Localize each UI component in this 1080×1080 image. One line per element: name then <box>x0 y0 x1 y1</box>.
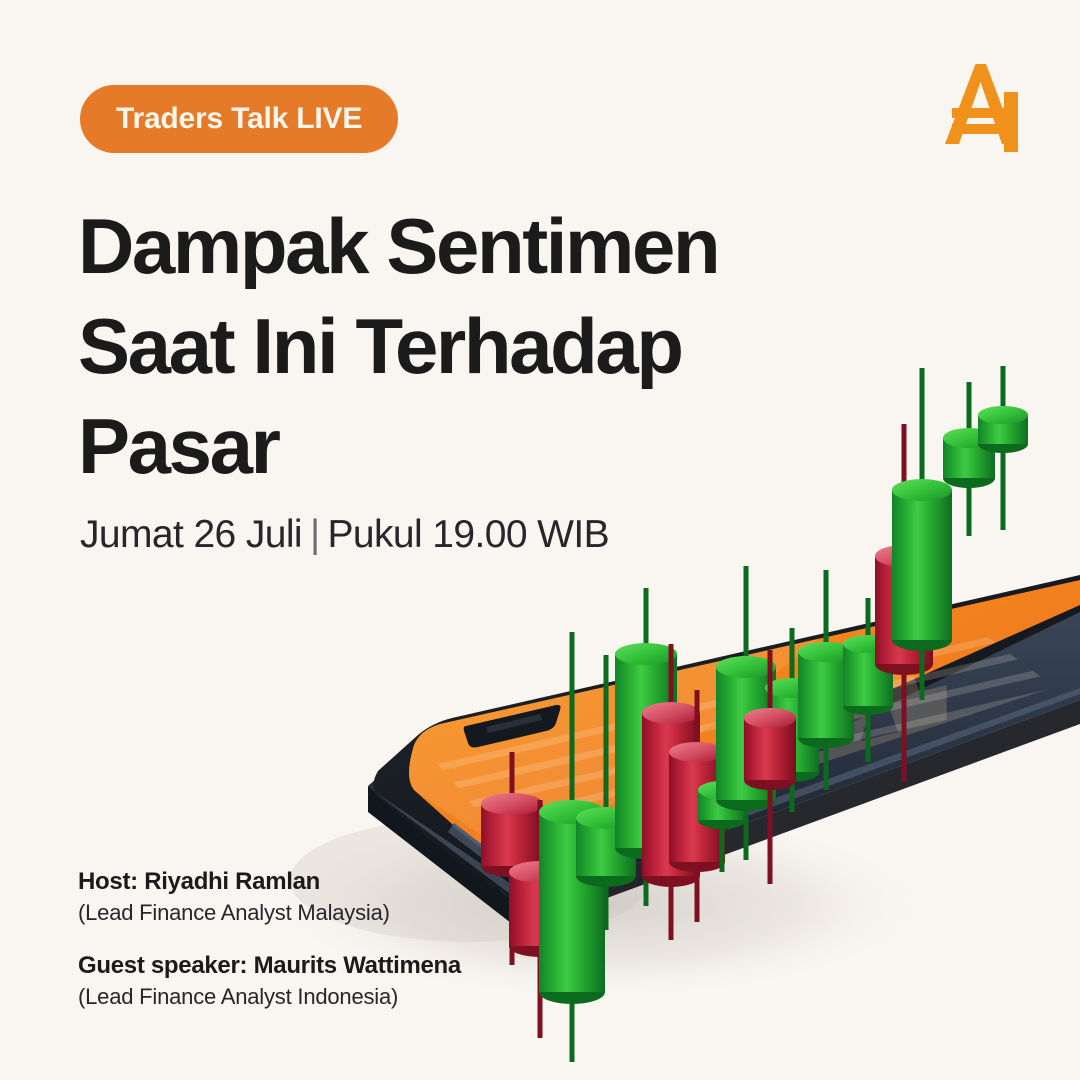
schedule-time: Pukul 19.00 WIB <box>328 513 609 556</box>
headline-line-2: Saat Ini Terhadap <box>78 296 838 396</box>
host-credit: Host: Riyadhi Ramlan (Lead Finance Analy… <box>78 868 461 926</box>
live-badge-label: Traders Talk LIVE <box>116 102 362 136</box>
headline-line-3: Pasar <box>78 396 838 496</box>
page-title: Dampak Sentimen Saat Ini Terhadap Pasar <box>78 196 838 496</box>
candle-up-17 <box>978 366 1028 530</box>
headline-line-1: Dampak Sentimen <box>78 196 838 296</box>
live-badge[interactable]: Traders Talk LIVE <box>80 85 398 153</box>
a-currency-logo-icon <box>942 58 1038 158</box>
schedule-date: Jumat 26 Juli <box>80 513 302 556</box>
guest-name: Guest speaker: Maurits Wattimena <box>78 952 461 980</box>
schedule-line: Jumat 26 Juli|Pukul 19.00 WIB <box>80 513 609 557</box>
guest-credit: Guest speaker: Maurits Wattimena (Lead F… <box>78 952 461 1010</box>
poster-canvas: Traders Talk LIVE Dampak Sentimen Saat I… <box>0 0 1080 1080</box>
schedule-separator: | <box>302 513 328 556</box>
host-role: (Lead Finance Analyst Malaysia) <box>78 900 461 926</box>
credits-block: Host: Riyadhi Ramlan (Lead Finance Analy… <box>78 868 461 1036</box>
guest-role: (Lead Finance Analyst Indonesia) <box>78 984 461 1010</box>
host-name: Host: Riyadhi Ramlan <box>78 868 461 896</box>
